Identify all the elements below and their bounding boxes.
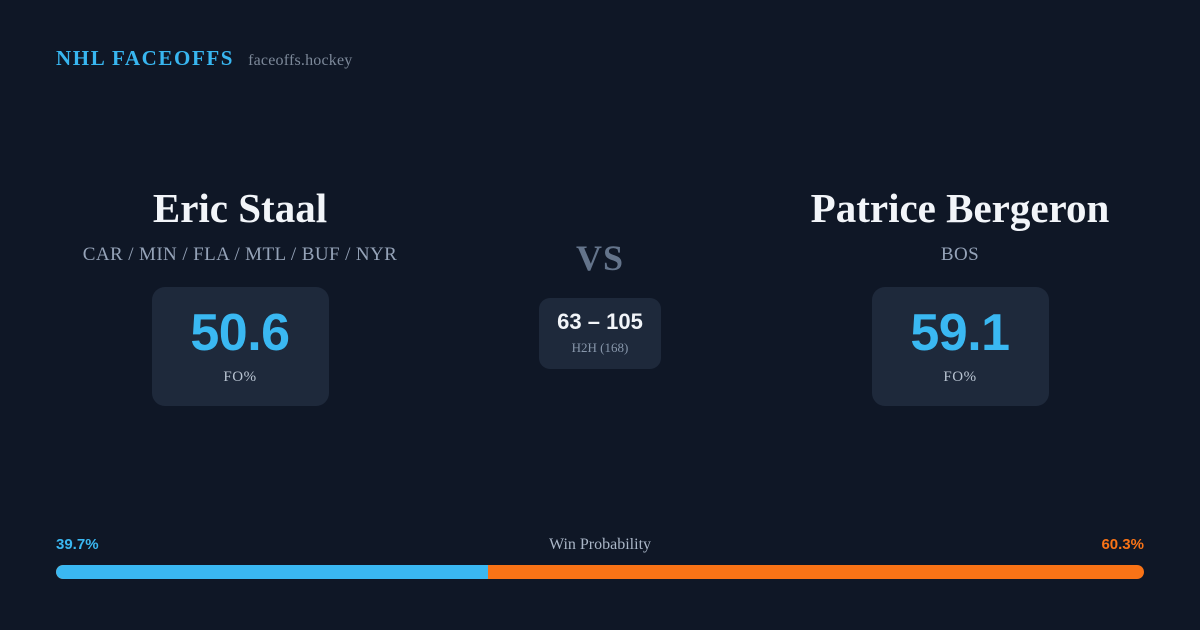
versus-column: VS 63 – 105 H2H (168) [480,186,720,369]
site-header: NHL FACEOFFS faceoffs.hockey [56,46,353,71]
stat-label-right: FO% [943,369,976,386]
stat-card-right: 59.1 FO% [872,287,1049,406]
player-card-right: Patrice Bergeron BOS 59.1 FO% [720,186,1200,406]
stat-value-right: 59.1 [910,307,1009,359]
win-probability-title: Win Probability [549,536,651,554]
matchup-row: Eric Staal CAR / MIN / FLA / MTL / BUF /… [0,186,1200,406]
head-to-head-record: 63 – 105 [557,311,643,333]
stat-card-left: 50.6 FO% [152,287,329,406]
head-to-head-sublabel: H2H (168) [572,340,629,356]
win-probability-left-value: 39.7% [56,536,99,553]
infographic-canvas: NHL FACEOFFS faceoffs.hockey Eric Staal … [0,0,1200,630]
versus-label: VS [576,240,624,276]
win-probability-right-value: 60.3% [1101,536,1144,553]
stat-label-left: FO% [223,369,256,386]
head-to-head-card: 63 – 105 H2H (168) [539,298,661,369]
win-probability-section: 39.7% Win Probability 60.3% [56,536,1144,579]
win-probability-bar-left-fill [56,565,488,579]
player-teams-right: BOS [941,244,979,266]
win-probability-labels: 39.7% Win Probability 60.3% [56,536,1144,556]
win-probability-bar [56,565,1144,579]
player-name-left: Eric Staal [153,186,327,232]
player-teams-left: CAR / MIN / FLA / MTL / BUF / NYR [83,244,397,266]
brand-domain: faceoffs.hockey [248,52,352,70]
player-name-right: Patrice Bergeron [811,186,1110,232]
player-card-left: Eric Staal CAR / MIN / FLA / MTL / BUF /… [0,186,480,406]
brand-title: NHL FACEOFFS [56,46,234,71]
stat-value-left: 50.6 [190,307,289,359]
